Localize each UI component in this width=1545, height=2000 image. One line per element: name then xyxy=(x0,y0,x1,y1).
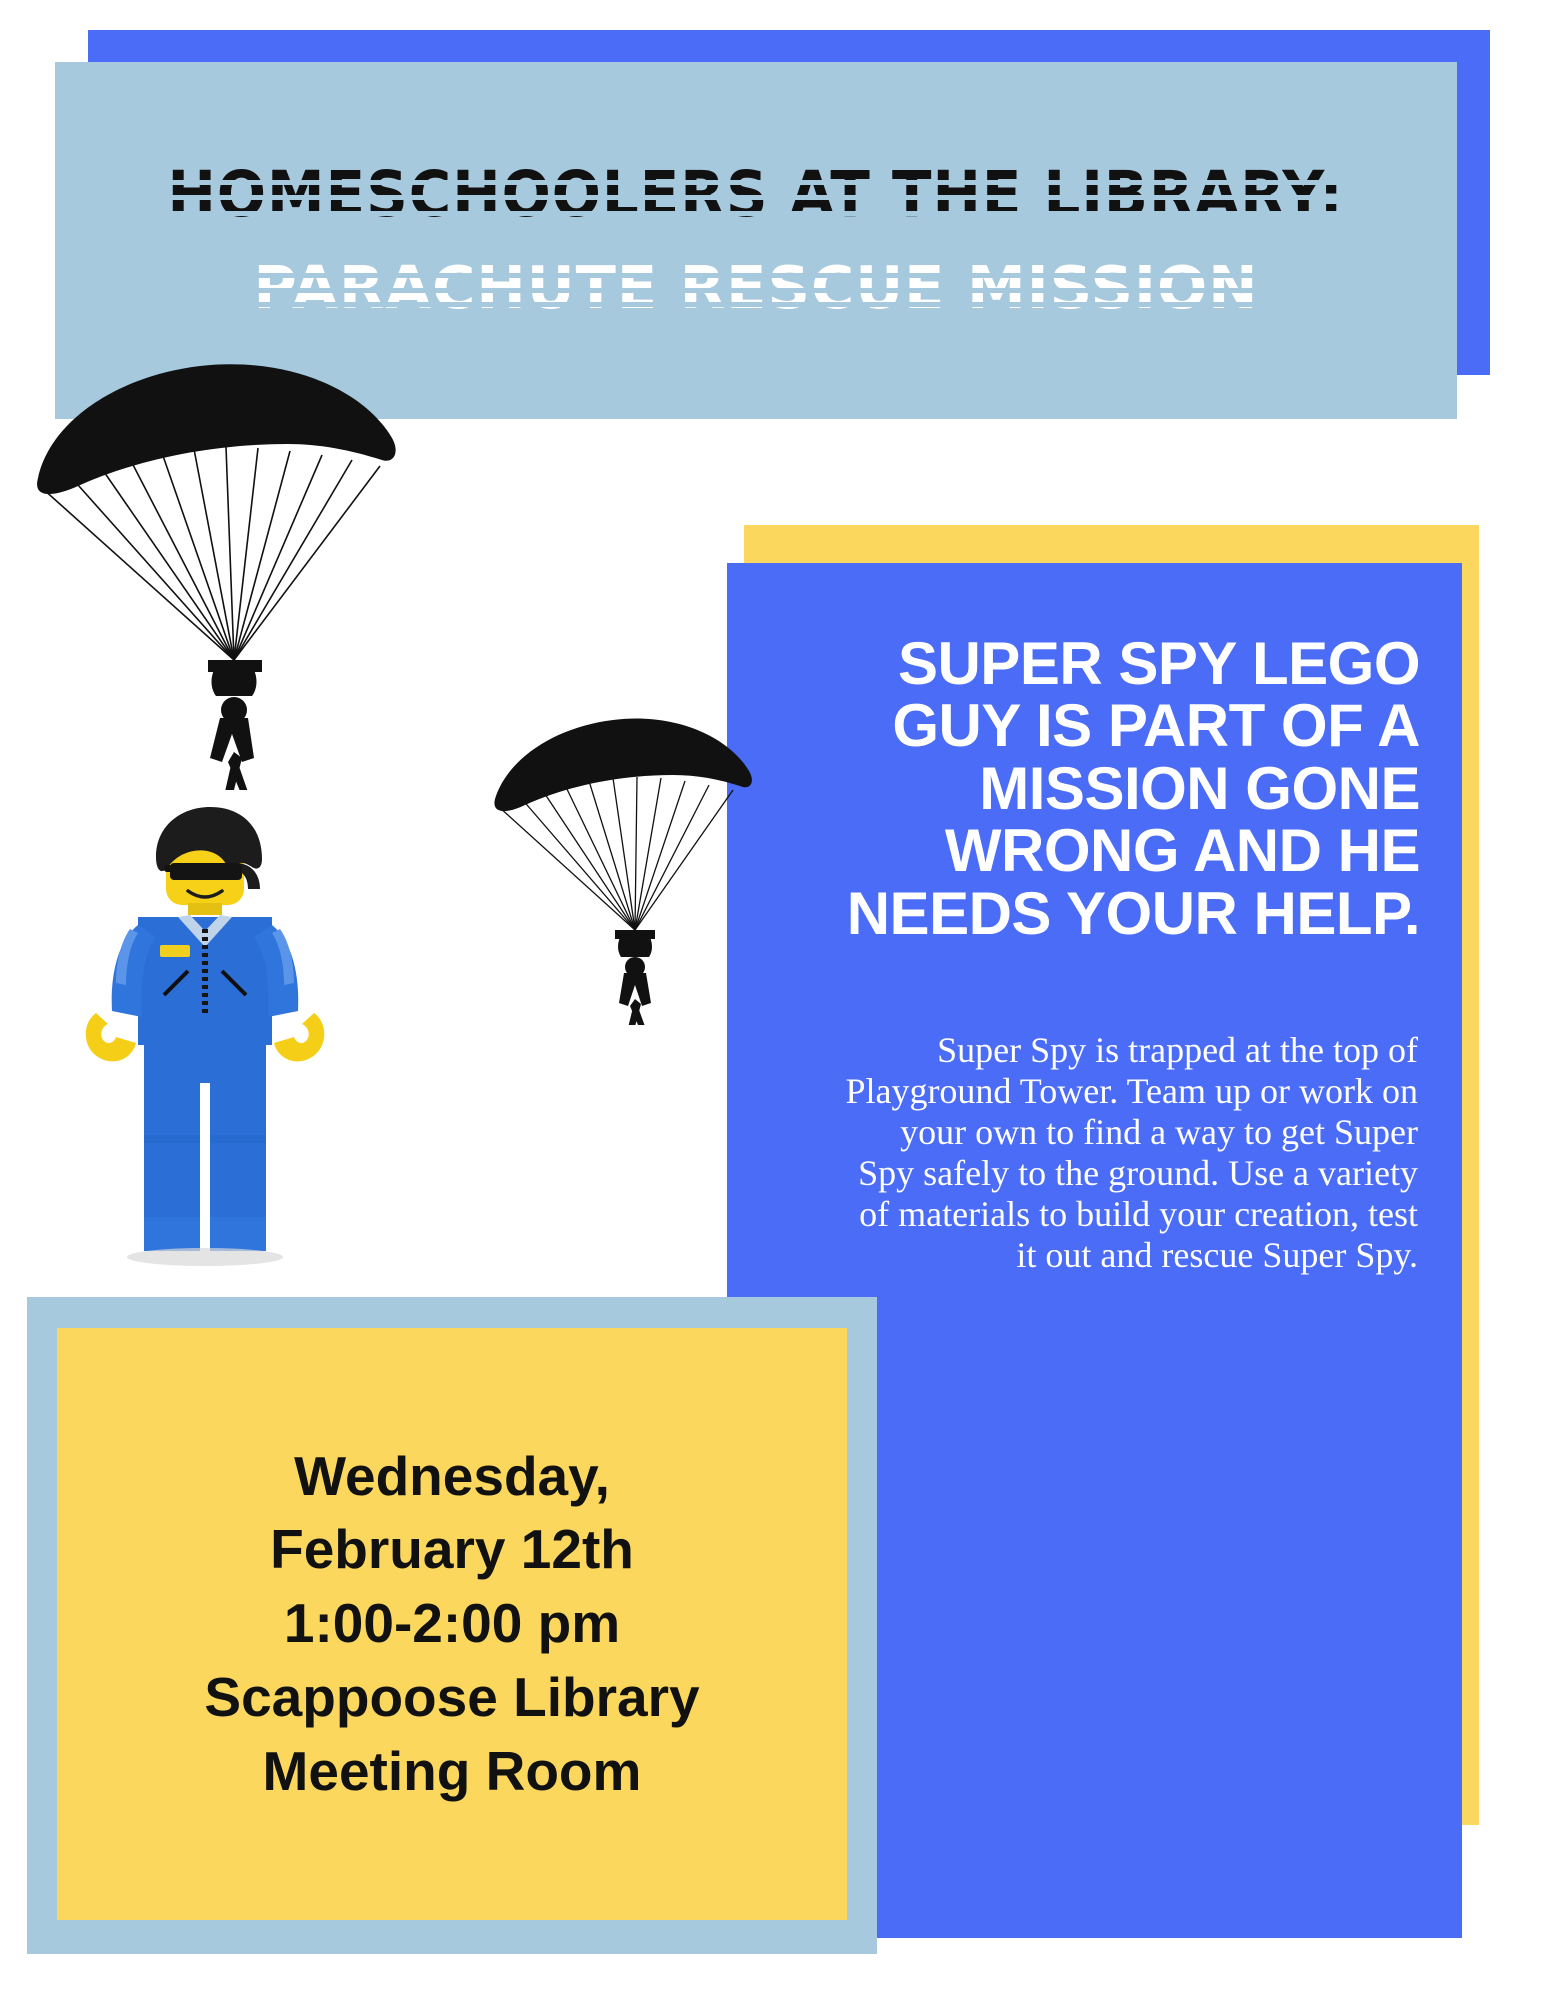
event-details: Wednesday, February 12th 1:00-2:00 pm Sc… xyxy=(57,1328,847,1920)
feature-blurb: Super Spy is trapped at the top of Playg… xyxy=(727,945,1462,1276)
flyer-poster: HOMESCHOOLERS AT THE LIBRARY: PARACHUTE … xyxy=(0,0,1545,2000)
event-day: Wednesday, xyxy=(294,1440,610,1514)
event-time: 1:00-2:00 pm xyxy=(284,1587,620,1661)
event-venue: Scappoose Library xyxy=(204,1661,699,1735)
page-title-text: HOMESCHOOLERS AT THE LIBRARY: xyxy=(168,158,1344,231)
parachutist-icon xyxy=(20,360,420,790)
page-title: HOMESCHOOLERS AT THE LIBRARY: xyxy=(168,163,1344,227)
parachutist-icon xyxy=(485,715,765,1025)
page-subtitle-text: PARACHUTE RESCUE MISSION xyxy=(253,253,1258,322)
header-text-block: HOMESCHOOLERS AT THE LIBRARY: PARACHUTE … xyxy=(55,62,1457,419)
lego-minifigure-icon xyxy=(60,805,350,1285)
page-subtitle: PARACHUTE RESCUE MISSION xyxy=(253,258,1258,318)
feature-headline: SUPER SPY LEGO GUY IS PART OF A MISSION … xyxy=(727,563,1462,945)
event-date: February 12th xyxy=(270,1513,634,1587)
event-room: Meeting Room xyxy=(263,1735,642,1809)
